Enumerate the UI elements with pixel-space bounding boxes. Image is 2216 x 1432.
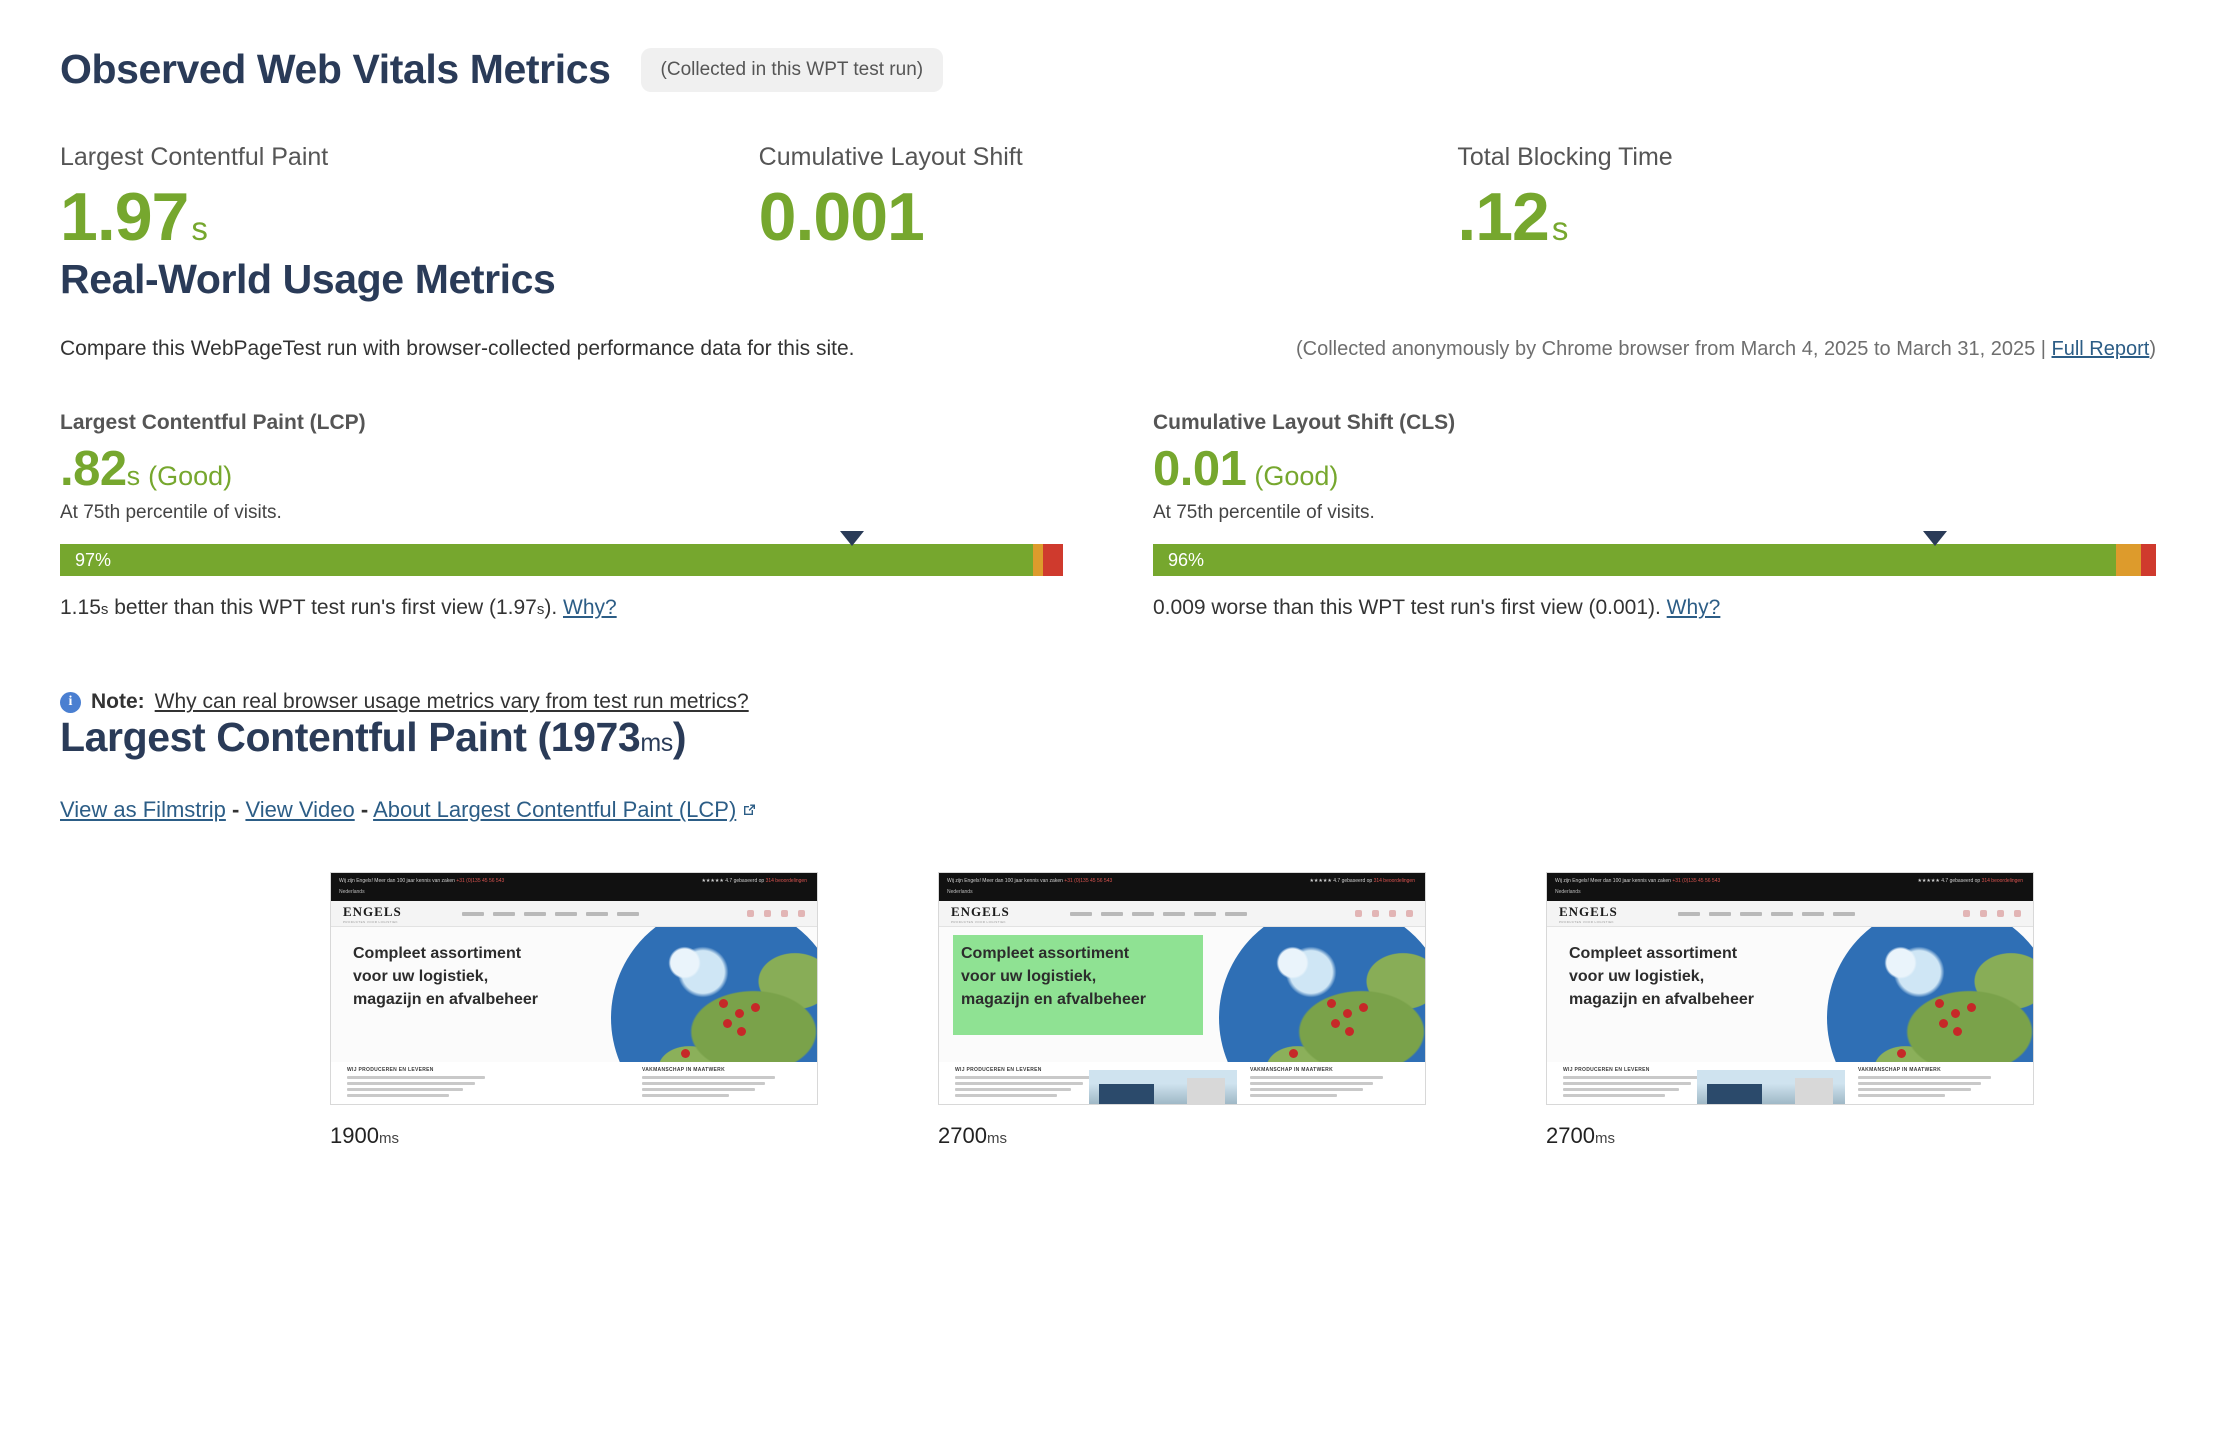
lcp-distribution-bar[interactable]: 97% [60, 544, 1063, 576]
topbar-right-text: ★★★★★ 4.7 gebaseerd op 314 beoordelingen [1917, 878, 2023, 884]
panel-value: .82s(Good) [60, 439, 1063, 500]
site-brand: ENGELS [1559, 904, 1618, 920]
footer-heading-2: VAKMANSCHAP IN MAATWERK [1250, 1067, 1395, 1073]
web-vitals-report: Observed Web Vitals Metrics (Collected i… [0, 0, 2216, 1432]
about-lcp-link[interactable]: About Largest Contentful Paint (LCP) [373, 797, 736, 822]
note-bold-label: Note: [91, 690, 145, 714]
realworld-panel-cls: Cumulative Layout Shift (CLS) 0.01(Good)… [1153, 411, 2156, 620]
site-logo: ENGELS PRODUCTEN VOOR LOGISTIEK [343, 904, 402, 924]
topbar-phone: +31 (0)135 45 56 543 [1064, 878, 1112, 884]
bar-good-percent: 97% [60, 550, 111, 571]
panel-value-number: 0.01 [1153, 442, 1246, 496]
footer-column-2: VAKMANSCHAP IN MAATWERK [1250, 1067, 1395, 1099]
search-icon [1355, 910, 1362, 917]
observed-metric-label: Largest Contentful Paint [60, 143, 759, 172]
observed-metric-value: 0.001 [759, 178, 1458, 256]
thumbnail-time-label: 2700ms [1546, 1123, 2034, 1149]
realworld-subtitle-row: Compare this WebPageTest run with browse… [60, 337, 2156, 361]
lcp-thumbnail-row: Wij zijn Engels! Meer dan 100 jaar kenni… [60, 872, 2156, 1149]
observed-metrics-grid: Largest Contentful Paint 1.97s Cumulativ… [60, 143, 2156, 256]
thumbnail-time: 1900 [330, 1123, 379, 1148]
site-brand-sub: PRODUCTEN VOOR LOGISTIEK [343, 920, 402, 924]
site-brand: ENGELS [951, 904, 1010, 920]
lcp-distribution-bar-wrap: 97% [60, 544, 1063, 576]
topbar-left-label: Wij zijn Engels! Meer dan 100 jaar kenni… [1555, 878, 1671, 884]
globe-image [1219, 927, 1425, 1062]
site-nav: ENGELS PRODUCTEN VOOR LOGISTIEK [1547, 901, 2033, 927]
site-footer-preview: WIJ PRODUCEREN EN LEVEREN VAKMANSCHAP IN… [331, 1062, 817, 1104]
hero-line-1: Compleet assortiment [353, 943, 538, 966]
observed-metric-unit: s [1552, 210, 1569, 247]
lcp-thumbnail-3[interactable]: Wij zijn Engels! Meer dan 100 jaar kenni… [1546, 872, 2034, 1149]
thumbnail-time-unit: ms [1595, 1130, 1615, 1147]
footer-column-1: WIJ PRODUCEREN EN LEVEREN [955, 1067, 1100, 1099]
variance-note: i Note: Why can real browser usage metri… [60, 690, 2156, 714]
footer-heading-2: VAKMANSCHAP IN MAATWERK [1858, 1067, 2003, 1073]
bar-segment-poor [2141, 544, 2156, 576]
footer-column-1: WIJ PRODUCEREN EN LEVEREN [347, 1067, 492, 1099]
bar-segment-poor [1043, 544, 1063, 576]
collection-suffix: ) [2149, 338, 2156, 360]
cls-comparison-note: 0.009 worse than this WPT test run's fir… [1153, 596, 2156, 620]
footer-product-image [1089, 1070, 1237, 1104]
topbar-left-text: Wij zijn Engels! Meer dan 100 jaar kenni… [947, 878, 1112, 884]
panel-percentile: At 75th percentile of visits. [60, 502, 1063, 524]
cart-icon [1406, 910, 1413, 917]
observed-metric-number: .12 [1457, 179, 1549, 255]
view-video-link[interactable]: View Video [245, 797, 354, 822]
thumbnail-time: 2700 [1546, 1123, 1595, 1148]
external-link-icon [741, 798, 757, 824]
hero-line-2: voor uw logistiek, [961, 966, 1146, 989]
panel-value: 0.01(Good) [1153, 439, 2156, 500]
hero-line-3: magazijn en afvalbeheer [961, 989, 1146, 1012]
search-icon [747, 910, 754, 917]
view-as-filmstrip-link[interactable]: View as Filmstrip [60, 797, 226, 822]
lcp-comparison-mid: better than this WPT test run's first vi… [108, 596, 536, 619]
thumbnail-time-label: 1900ms [330, 1123, 818, 1149]
bar-segment-needs-improvement [1033, 544, 1043, 576]
topbar-phone: +31 (0)135 45 56 543 [1672, 878, 1720, 884]
screenshot-frame[interactable]: Wij zijn Engels! Meer dan 100 jaar kenni… [330, 872, 818, 1105]
lcp-heading-main: Largest Contentful Paint (1973 [60, 714, 640, 760]
hero-line-2: voor uw logistiek, [353, 966, 538, 989]
topbar-rating-label: 4.7 gebaseerd op [1941, 878, 1980, 884]
site-logo: ENGELS PRODUCTEN VOOR LOGISTIEK [951, 904, 1010, 924]
topbar-lang: Nederlands [339, 889, 365, 895]
realworld-panels: Largest Contentful Paint (LCP) .82s(Good… [60, 411, 2156, 620]
site-hero: Compleet assortiment voor uw logistiek, … [939, 927, 1425, 1062]
realworld-collection-note: (Collected anonymously by Chrome browser… [1296, 338, 2156, 361]
screenshot-frame[interactable]: Wij zijn Engels! Meer dan 100 jaar kenni… [938, 872, 1426, 1105]
lcp-heading-unit: ms [640, 729, 673, 757]
hero-heading: Compleet assortiment voor uw logistiek, … [353, 943, 538, 1011]
observed-metric-value: .12s [1457, 178, 2156, 256]
cls-comparison-text: 0.009 worse than this WPT test run's fir… [1153, 596, 1667, 619]
realworld-subtitle: Compare this WebPageTest run with browse… [60, 337, 854, 361]
flag-icon [1372, 910, 1379, 917]
wpt-run-marker-icon [840, 531, 864, 546]
panel-title: Cumulative Layout Shift (CLS) [1153, 411, 2156, 435]
site-topbar: Wij zijn Engels! Meer dan 100 jaar kenni… [331, 873, 817, 901]
cls-distribution-bar-wrap: 96% [1153, 544, 2156, 576]
account-icon [1389, 910, 1396, 917]
hero-heading: Compleet assortiment voor uw logistiek, … [961, 943, 1146, 1011]
observed-metric-number: 1.97 [60, 179, 188, 255]
observed-metric-lcp: Largest Contentful Paint 1.97s [60, 143, 759, 256]
info-icon: i [60, 692, 81, 713]
topbar-right-text: ★★★★★ 4.7 gebaseerd op 314 beoordelingen [1309, 878, 1415, 884]
footer-column-2: VAKMANSCHAP IN MAATWERK [642, 1067, 787, 1099]
topbar-lang: Nederlands [1555, 889, 1581, 895]
lcp-links-row: View as Filmstrip - View Video - About L… [60, 797, 2156, 824]
topbar-left-label: Wij zijn Engels! Meer dan 100 jaar kenni… [947, 878, 1063, 884]
topbar-left-label: Wij zijn Engels! Meer dan 100 jaar kenni… [339, 878, 455, 884]
flag-icon [1980, 910, 1987, 917]
topbar-rating-label: 4.7 gebaseerd op [725, 878, 764, 884]
panel-rating: (Good) [1254, 461, 1338, 491]
site-brand: ENGELS [343, 904, 402, 920]
cart-icon [798, 910, 805, 917]
footer-product-image [1697, 1070, 1845, 1104]
variance-note-link[interactable]: Why can real browser usage metrics vary … [155, 690, 749, 714]
site-brand-sub: PRODUCTEN VOOR LOGISTIEK [1559, 920, 1618, 924]
bar-segment-needs-improvement [2116, 544, 2141, 576]
cls-distribution-bar[interactable]: 96% [1153, 544, 2156, 576]
footer-heading-1: WIJ PRODUCEREN EN LEVEREN [347, 1067, 492, 1073]
lcp-section-heading: Largest Contentful Paint (1973ms) [60, 714, 2156, 761]
topbar-right-text: ★★★★★ 4.7 gebaseerd op 314 beoordelingen [701, 878, 807, 884]
site-nav-icons [1355, 910, 1413, 917]
footer-column-1: WIJ PRODUCEREN EN LEVEREN [1563, 1067, 1708, 1099]
why-link-cls[interactable]: Why? [1667, 596, 1721, 619]
lcp-comparison-text: 1.15 [60, 596, 101, 619]
full-report-link[interactable]: Full Report [2052, 338, 2150, 360]
hero-line-3: magazijn en afvalbeheer [353, 989, 538, 1012]
site-logo: ENGELS PRODUCTEN VOOR LOGISTIEK [1559, 904, 1618, 924]
observed-metric-number: 0.001 [759, 179, 924, 255]
observed-heading: Observed Web Vitals Metrics [60, 46, 611, 93]
lcp-thumbnail-2[interactable]: Wij zijn Engels! Meer dan 100 jaar kenni… [938, 872, 1426, 1149]
site-hero: Compleet assortiment voor uw logistiek, … [331, 927, 817, 1062]
lcp-thumbnail-1[interactable]: Wij zijn Engels! Meer dan 100 jaar kenni… [330, 872, 818, 1149]
site-footer-preview: WIJ PRODUCEREN EN LEVEREN VAKMANSCHAP IN… [939, 1062, 1425, 1104]
site-hero: Compleet assortiment voor uw logistiek, … [1547, 927, 2033, 1062]
lcp-comparison-suffix: ). [544, 596, 563, 619]
realworld-heading: Real-World Usage Metrics [60, 256, 2156, 303]
footer-column-2: VAKMANSCHAP IN MAATWERK [1858, 1067, 2003, 1099]
site-footer-preview: WIJ PRODUCEREN EN LEVEREN VAKMANSCHAP IN… [1547, 1062, 2033, 1104]
bar-segment-good: 97% [60, 544, 1033, 576]
observed-title-row: Observed Web Vitals Metrics (Collected i… [60, 0, 2156, 93]
hero-line-3: magazijn en afvalbeheer [1569, 989, 1754, 1012]
topbar-lang: Nederlands [947, 889, 973, 895]
site-nav-items [1070, 912, 1247, 916]
topbar-phone: +31 (0)135 45 56 543 [456, 878, 504, 884]
panel-value-number: .82 [60, 442, 127, 496]
panel-rating: (Good) [148, 461, 232, 491]
realworld-panel-lcp: Largest Contentful Paint (LCP) .82s(Good… [60, 411, 1063, 620]
observed-metric-cls: Cumulative Layout Shift 0.001 [759, 143, 1458, 256]
observed-collection-badge: (Collected in this WPT test run) [641, 48, 944, 92]
hero-line-1: Compleet assortiment [961, 943, 1146, 966]
site-brand-sub: PRODUCTEN VOOR LOGISTIEK [951, 920, 1010, 924]
panel-title: Largest Contentful Paint (LCP) [60, 411, 1063, 435]
panel-value-unit: s [127, 461, 141, 491]
cart-icon [2014, 910, 2021, 917]
panel-percentile: At 75th percentile of visits. [1153, 502, 2156, 524]
flag-icon [764, 910, 771, 917]
thumbnail-time-unit: ms [379, 1130, 399, 1147]
globe-image [611, 927, 817, 1062]
collection-prefix: (Collected anonymously by Chrome browser… [1296, 338, 2052, 360]
hero-heading: Compleet assortiment voor uw logistiek, … [1569, 943, 1754, 1011]
screenshot-frame[interactable]: Wij zijn Engels! Meer dan 100 jaar kenni… [1546, 872, 2034, 1105]
site-nav-items [462, 912, 639, 916]
topbar-reviews-link: 314 beoordelingen [766, 878, 807, 884]
observed-metric-value: 1.97s [60, 178, 759, 256]
hero-line-2: voor uw logistiek, [1569, 966, 1754, 989]
bar-segment-good: 96% [1153, 544, 2116, 576]
site-nav: ENGELS PRODUCTEN VOOR LOGISTIEK [939, 901, 1425, 927]
footer-heading-1: WIJ PRODUCEREN EN LEVEREN [955, 1067, 1100, 1073]
topbar-left-text: Wij zijn Engels! Meer dan 100 jaar kenni… [1555, 878, 1720, 884]
topbar-reviews-link: 314 beoordelingen [1982, 878, 2023, 884]
site-nav-icons [747, 910, 805, 917]
site-topbar: Wij zijn Engels! Meer dan 100 jaar kenni… [939, 873, 1425, 901]
observed-metric-unit: s [191, 210, 208, 247]
thumbnail-time: 2700 [938, 1123, 987, 1148]
thumbnail-time-label: 2700ms [938, 1123, 1426, 1149]
account-icon [1997, 910, 2004, 917]
site-nav-icons [1963, 910, 2021, 917]
search-icon [1963, 910, 1970, 917]
observed-metric-label: Cumulative Layout Shift [759, 143, 1458, 172]
wpt-run-marker-icon [1923, 531, 1947, 546]
site-nav-items [1678, 912, 1855, 916]
footer-heading-1: WIJ PRODUCEREN EN LEVEREN [1563, 1067, 1708, 1073]
lcp-comparison-note: 1.15s better than this WPT test run's fi… [60, 596, 1063, 620]
observed-metric-tbt: Total Blocking Time .12s [1457, 143, 2156, 256]
link-separator: - [361, 797, 368, 822]
link-separator: - [232, 797, 239, 822]
observed-metric-label: Total Blocking Time [1457, 143, 2156, 172]
topbar-left-text: Wij zijn Engels! Meer dan 100 jaar kenni… [339, 878, 504, 884]
topbar-reviews-link: 314 beoordelingen [1374, 878, 1415, 884]
lcp-heading-close: ) [673, 714, 686, 760]
site-topbar: Wij zijn Engels! Meer dan 100 jaar kenni… [1547, 873, 2033, 901]
site-nav: ENGELS PRODUCTEN VOOR LOGISTIEK [331, 901, 817, 927]
thumbnail-time-unit: ms [987, 1130, 1007, 1147]
bar-good-percent: 96% [1153, 550, 1204, 571]
footer-heading-2: VAKMANSCHAP IN MAATWERK [642, 1067, 787, 1073]
hero-line-1: Compleet assortiment [1569, 943, 1754, 966]
account-icon [781, 910, 788, 917]
why-link-lcp[interactable]: Why? [563, 596, 617, 619]
topbar-rating-label: 4.7 gebaseerd op [1333, 878, 1372, 884]
globe-image [1827, 927, 2033, 1062]
